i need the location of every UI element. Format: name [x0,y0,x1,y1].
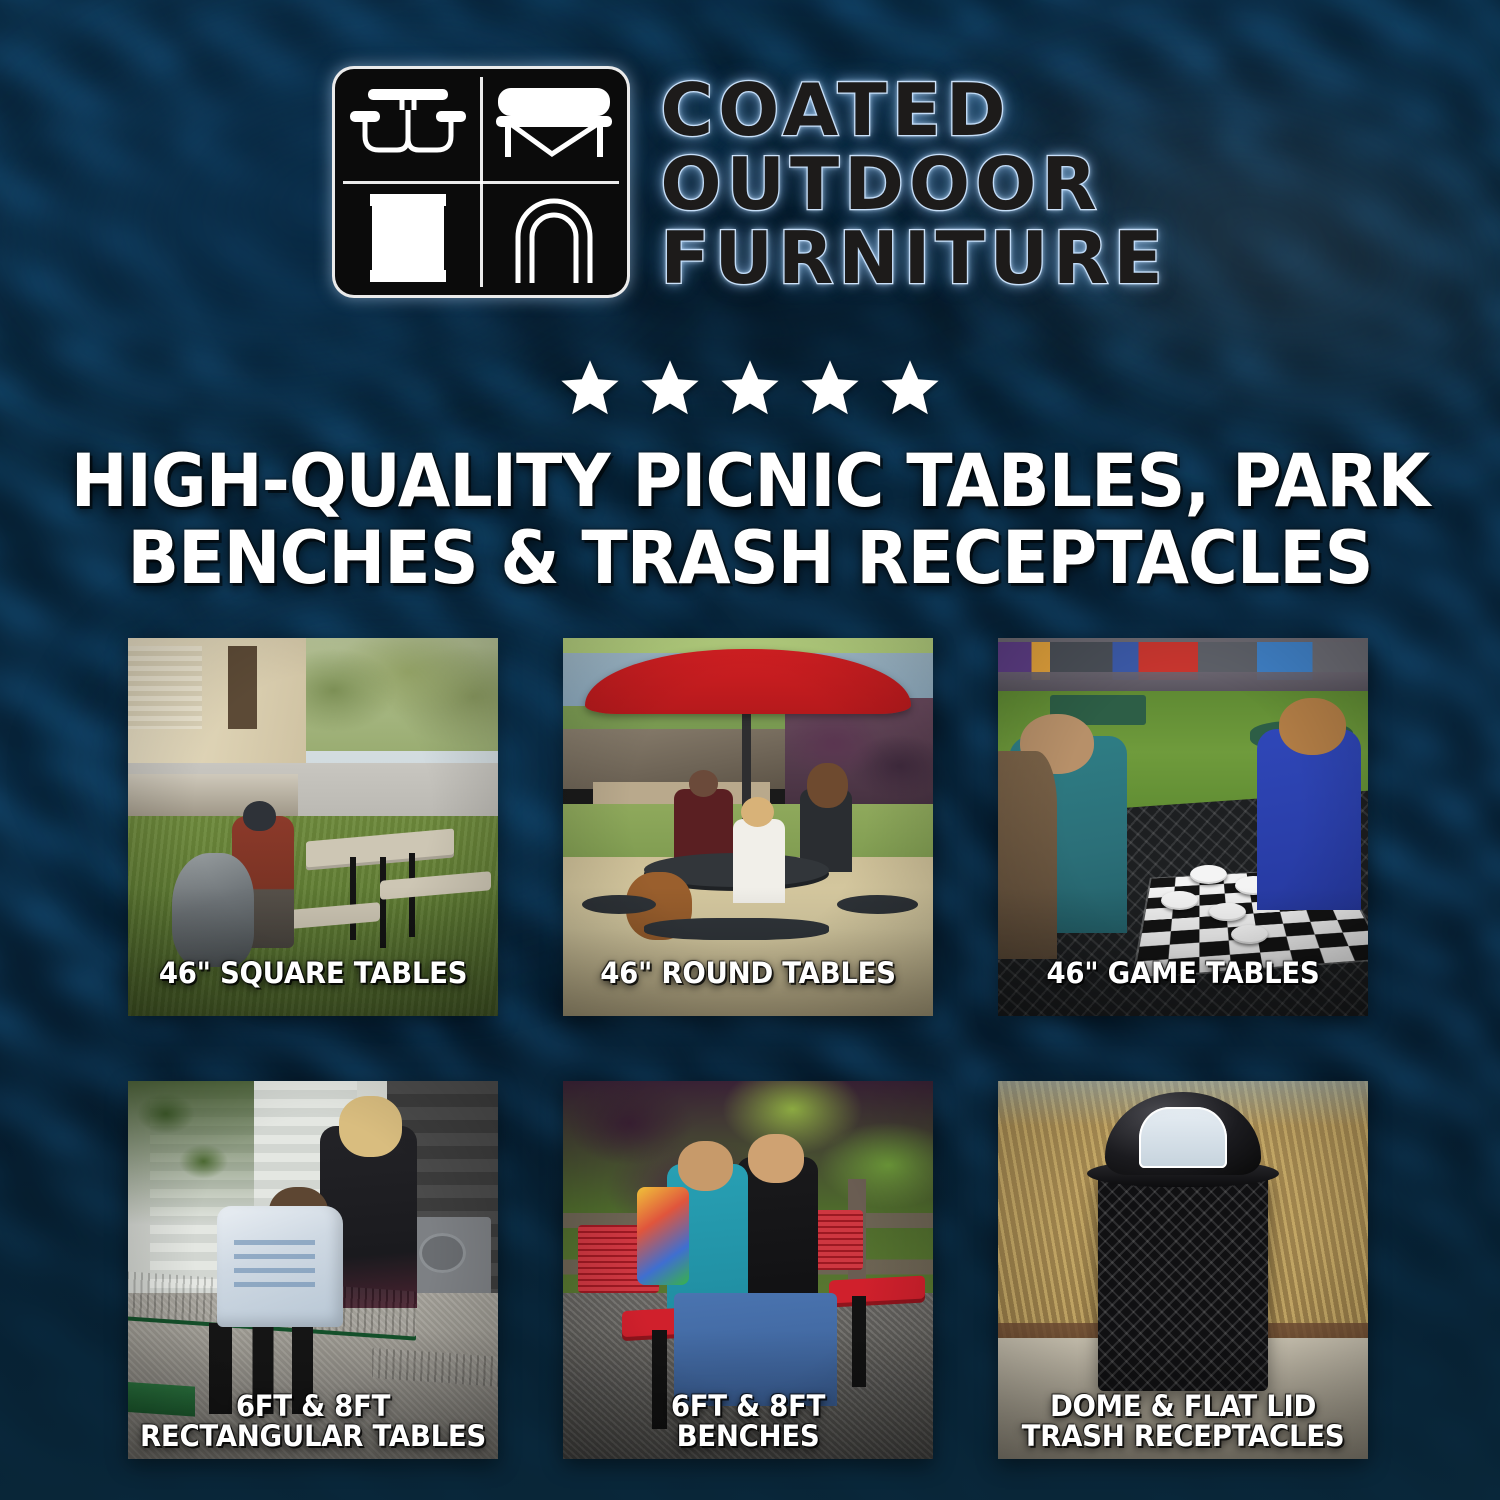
star-icon [877,356,943,420]
caption-square-tables: 46" SQUARE TABLES [137,958,489,988]
brand-line-2: OUTDOOR [660,148,1167,220]
caption-line: 6FT & 8FT [572,1391,924,1421]
product-tile-game-tables[interactable]: 46" GAME TABLES [998,638,1368,1016]
caption-line: 46" ROUND TABLES [572,958,924,988]
headline-line-1: HIGH-QUALITY PICNIC TABLES, PARK [53,444,1448,521]
page-title: HIGH-QUALITY PICNIC TABLES, PARK BENCHES… [53,444,1448,597]
flat-lid-trash-icon [335,182,481,295]
product-grid: 46" SQUARE TABLES [128,638,1373,1459]
caption-rectangular-tables: 6FT & 8FT RECTANGULAR TABLES [137,1391,489,1451]
caption-line: BENCHES [572,1421,924,1451]
caption-trash-receptacles: DOME & FLAT LID TRASH RECEPTACLES [1007,1391,1359,1451]
caption-benches: 6FT & 8FT BENCHES [572,1391,924,1451]
brand-line-1: COATED [660,74,1167,146]
star-icon [637,356,703,420]
brand-wordmark: COATED OUTDOOR FURNITURE [660,66,1167,294]
logo-icon-grid [332,66,630,298]
caption-line: 6FT & 8FT [137,1391,489,1421]
caption-line: RECTANGULAR TABLES [137,1421,489,1451]
bench-icon [481,69,627,182]
caption-line: 46" SQUARE TABLES [137,958,489,988]
product-tile-round-tables[interactable]: 46" ROUND TABLES [563,638,933,1016]
dome-lid-trash-icon [481,182,627,295]
caption-round-tables: 46" ROUND TABLES [572,958,924,988]
product-tile-square-tables[interactable]: 46" SQUARE TABLES [128,638,498,1016]
brand-logo: COATED OUTDOOR FURNITURE [0,66,1500,298]
caption-line: TRASH RECEPTACLES [1007,1421,1359,1451]
caption-game-tables: 46" GAME TABLES [1007,958,1359,988]
picnic-table-icon [335,69,481,182]
headline-line-2: BENCHES & TRASH RECEPTACLES [53,521,1448,598]
product-tile-trash-receptacles[interactable]: DOME & FLAT LID TRASH RECEPTACLES [998,1081,1368,1459]
caption-line: DOME & FLAT LID [1007,1391,1359,1421]
star-rating [0,356,1500,420]
promo-banner: COATED OUTDOOR FURNITURE HIGH-QUALITY PI… [0,0,1500,1500]
star-icon [717,356,783,420]
product-tile-rectangular-tables[interactable]: 6FT & 8FT RECTANGULAR TABLES [128,1081,498,1459]
star-icon [557,356,623,420]
star-icon [797,356,863,420]
caption-line: 46" GAME TABLES [1007,958,1359,988]
product-tile-benches[interactable]: 6FT & 8FT BENCHES [563,1081,933,1459]
brand-line-3: FURNITURE [660,222,1167,294]
